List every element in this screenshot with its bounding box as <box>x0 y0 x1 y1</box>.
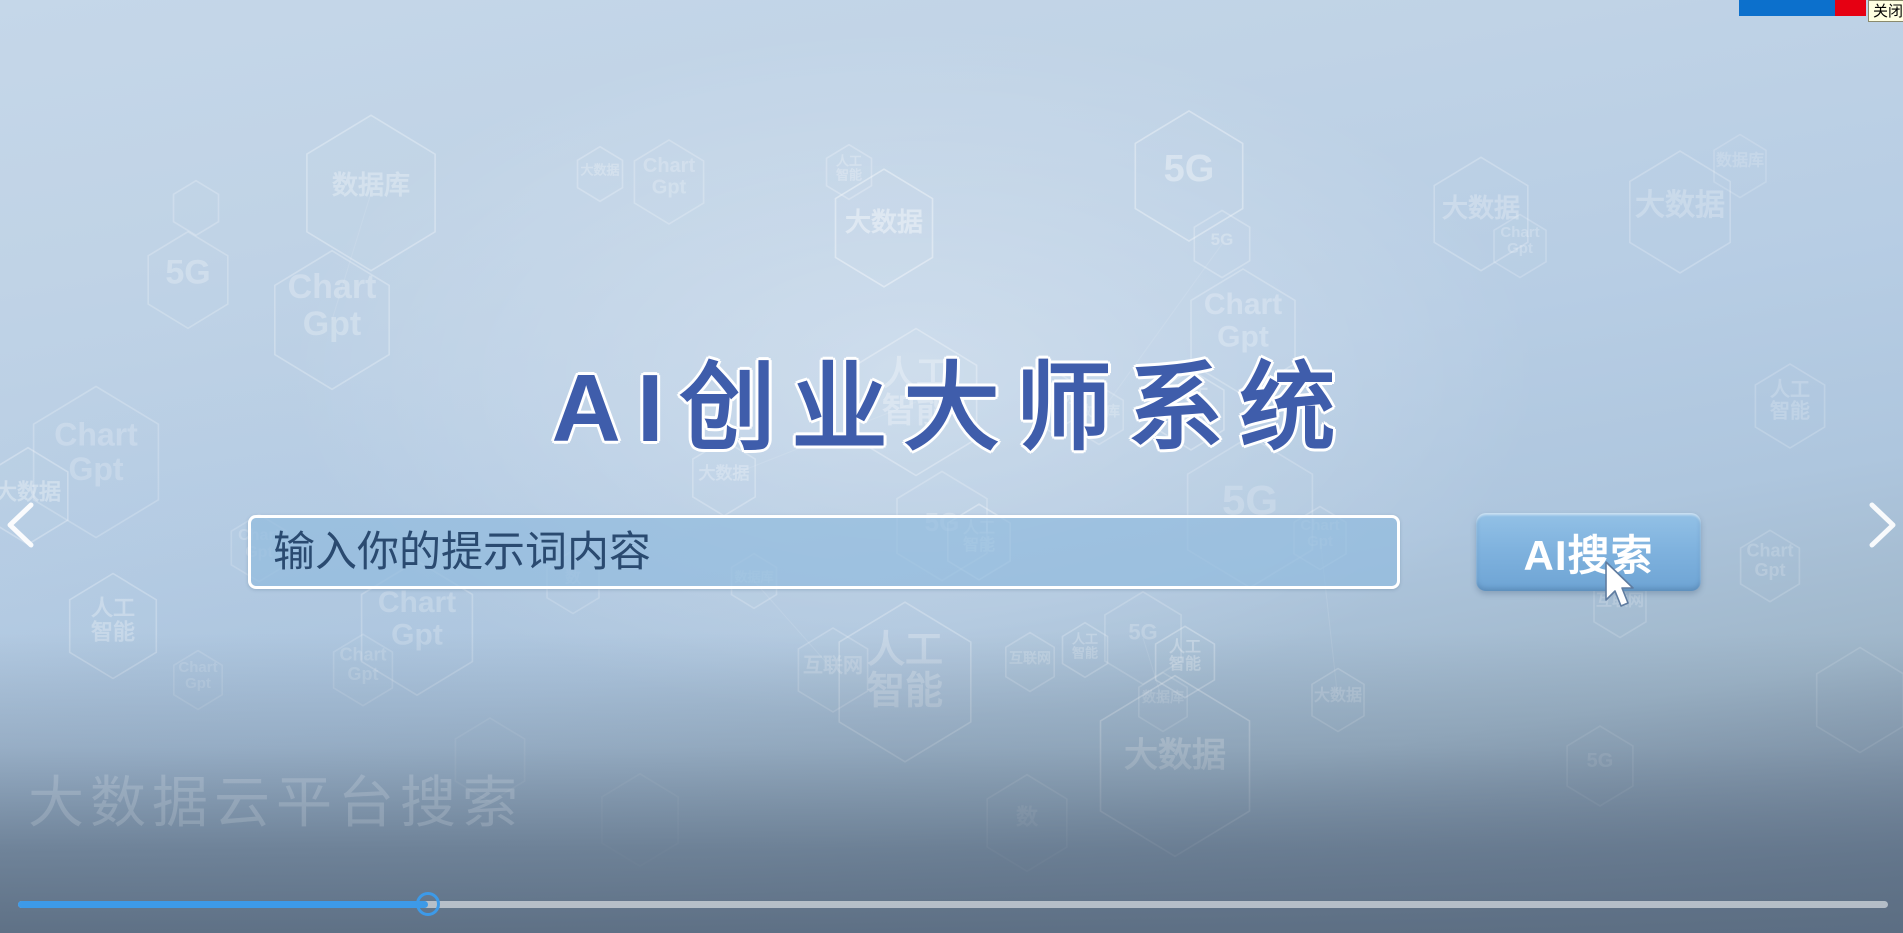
hex-label: 大数据 <box>1635 189 1725 222</box>
chevron-right-icon <box>1857 497 1903 553</box>
hex-label: 智能 <box>1169 654 1201 673</box>
hex-label: 人工 <box>1072 631 1098 646</box>
hex-shape <box>1434 157 1528 270</box>
hex-label: Gpt <box>391 618 443 651</box>
hex-label: Chart <box>288 268 377 306</box>
watermark-title: 大数据云平台搜索 <box>28 758 524 839</box>
carousel-prev-button[interactable] <box>0 497 46 553</box>
hex-shape <box>334 634 393 705</box>
hex-label: 大数据 <box>580 162 619 177</box>
hex-shape <box>1101 676 1250 857</box>
hex-shape <box>1156 626 1215 697</box>
hex-shape <box>1817 648 1903 753</box>
hex-label: Gpt <box>1755 560 1786 580</box>
hex-label: 智能 <box>1072 645 1098 660</box>
hex-label: 数据库 <box>1716 150 1764 169</box>
hex-shape <box>174 651 222 710</box>
hex-shape <box>1139 673 1187 732</box>
hex-label: 5G <box>165 254 210 292</box>
hex-label: 互联网 <box>1009 650 1051 666</box>
hex-label: Gpt <box>348 664 379 684</box>
hex-label: Chart <box>643 155 696 177</box>
hex-shape <box>1494 215 1546 278</box>
hex-shape <box>1714 135 1766 198</box>
hex-shape <box>307 115 435 270</box>
carousel-next-button[interactable] <box>1857 497 1903 553</box>
hex-shape <box>1630 151 1730 273</box>
hex-label: Chart <box>339 644 386 664</box>
slider-thumb[interactable] <box>416 892 440 916</box>
progress-slider[interactable] <box>18 892 1888 916</box>
hex-shape <box>1063 623 1108 678</box>
hex-label: Gpt <box>185 675 211 692</box>
hex-label: 大数据 <box>845 207 923 237</box>
hex-shape <box>1567 726 1633 806</box>
hex-label: 人工 <box>1169 638 1201 656</box>
hex-label: 智能 <box>836 167 862 182</box>
hex-label: 互联网 <box>803 654 863 677</box>
hex-shape <box>798 628 867 712</box>
hex-shape <box>578 147 623 202</box>
hex-label: 5G <box>1128 619 1157 644</box>
chevron-left-icon <box>0 497 46 553</box>
hex-shape <box>1194 210 1249 277</box>
search-input[interactable] <box>248 515 1400 589</box>
hex-shape <box>1135 111 1242 241</box>
close-tooltip: 关闭 <box>1868 0 1903 22</box>
hex-label: 大数据 <box>1442 193 1520 223</box>
hex-label: 大数据 <box>1124 737 1226 775</box>
hex-label: Chart <box>1746 540 1793 560</box>
hex-label: Chart <box>178 659 217 676</box>
hex-label: 智能 <box>91 619 135 644</box>
hex-label: 5G <box>1587 750 1614 772</box>
hex-shape <box>836 169 933 287</box>
hex-shape <box>602 774 678 866</box>
hex-label: Chart <box>1500 224 1539 241</box>
hex-label: 智能 <box>867 670 943 712</box>
hex-shape <box>1006 633 1054 692</box>
taskbar-blue-segment[interactable] <box>1739 0 1835 16</box>
hex-label: 人工 <box>867 629 943 671</box>
hex-shape <box>1105 592 1181 684</box>
slider-fill <box>18 901 428 908</box>
hex-shape <box>70 574 157 679</box>
hex-label: 5G <box>1211 230 1234 249</box>
ai-search-button[interactable]: AI搜索 <box>1476 513 1701 591</box>
hex-shape <box>1312 669 1364 732</box>
taskbar-red-segment[interactable] <box>1835 0 1866 16</box>
hex-label: Gpt <box>1507 240 1533 257</box>
page-title: AI创业大师系统 <box>0 330 1903 469</box>
hex-label: 数据库 <box>1142 689 1184 705</box>
search-row: AI搜索 <box>248 506 1718 598</box>
app-root: 数据库ChartGpt5GChartGpt大数据ChartGptChartGpt… <box>0 0 1903 933</box>
hex-shape <box>987 775 1067 872</box>
hex-label: 数 <box>1016 804 1039 829</box>
hex-label: Gpt <box>652 177 687 199</box>
hex-label: 5G <box>1164 148 1215 190</box>
hex-shape <box>827 145 872 200</box>
hex-shape <box>1741 530 1800 601</box>
hex-label: 数据库 <box>332 170 410 200</box>
hex-shape <box>148 232 228 329</box>
hex-label: 大数据 <box>1314 685 1362 704</box>
hex-label: 人工 <box>836 153 862 168</box>
hex-label: Chart <box>1204 288 1282 321</box>
hex-shape <box>839 602 971 762</box>
hex-shape <box>174 181 219 236</box>
hex-shape <box>634 140 703 224</box>
hex-label: 人工 <box>91 596 135 621</box>
